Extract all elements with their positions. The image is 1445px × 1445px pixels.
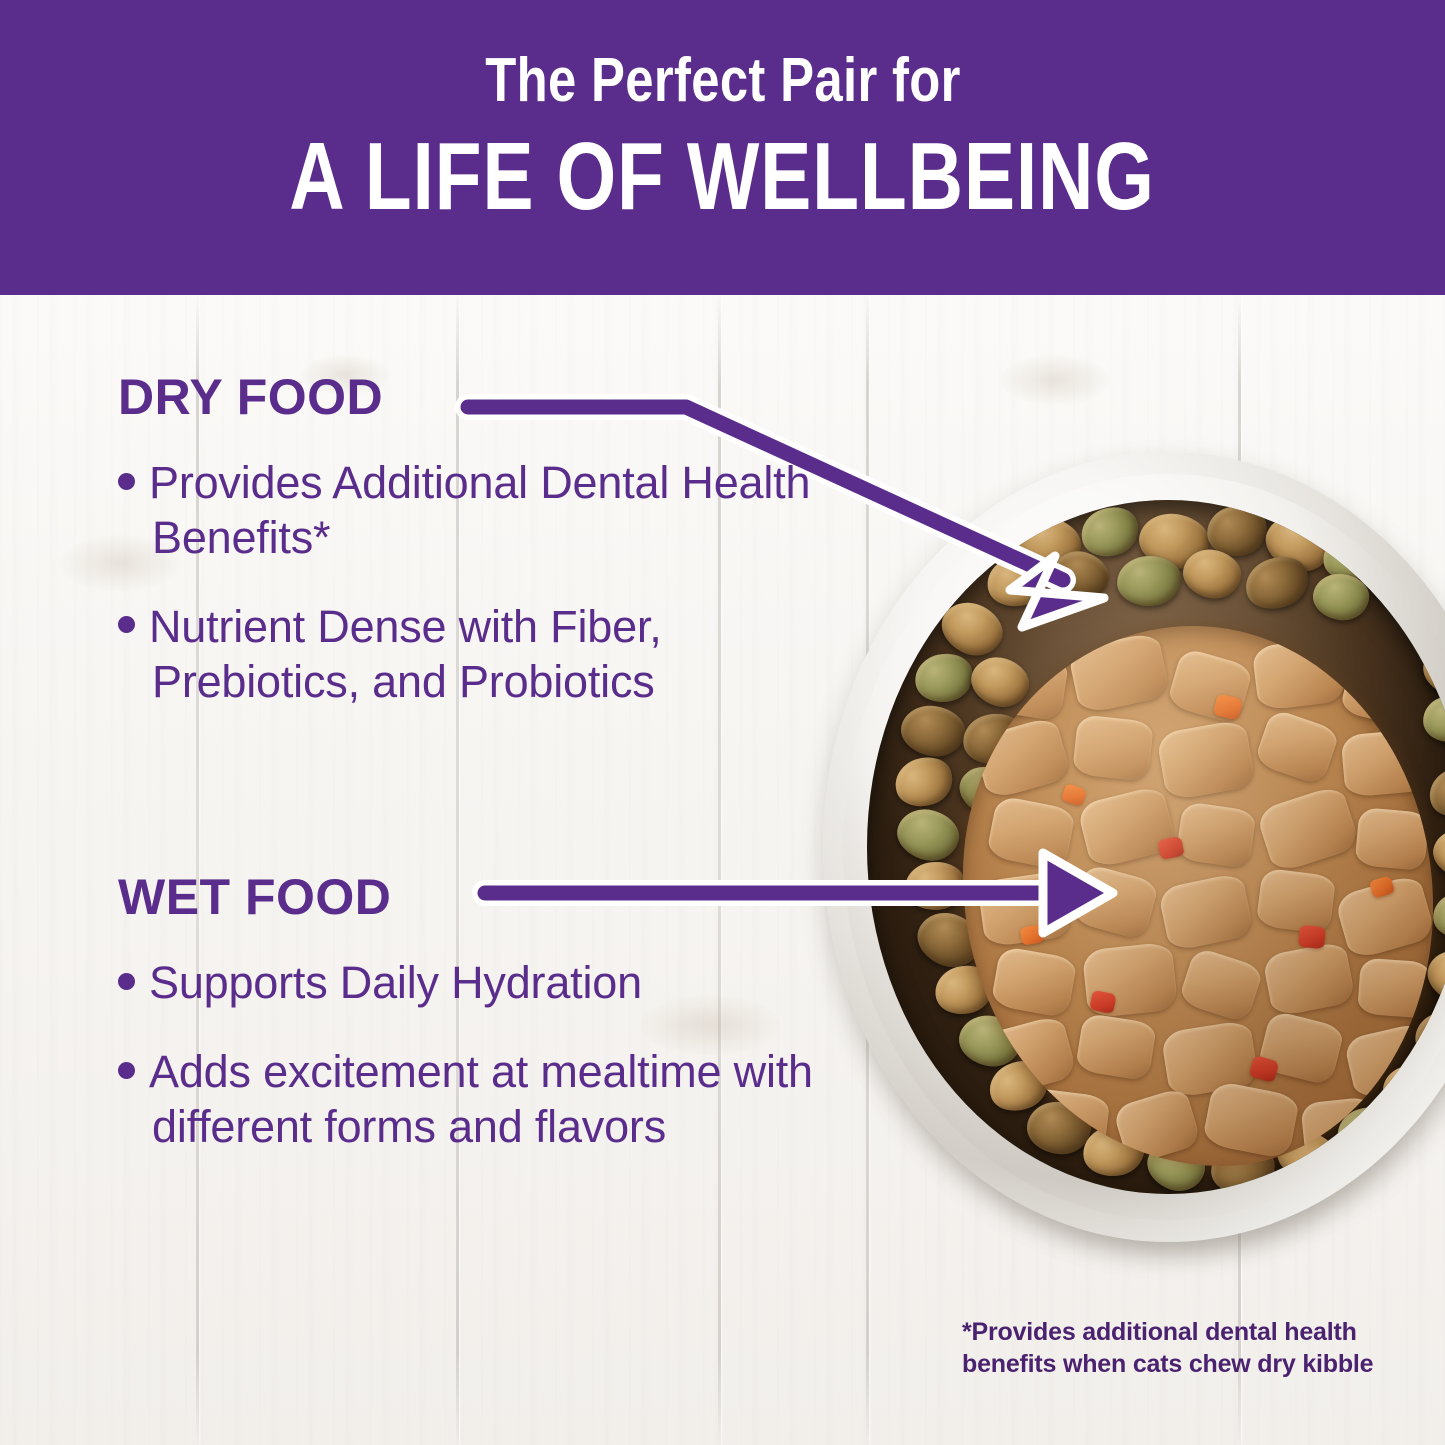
list-item: Adds excitement at mealtime with differe… bbox=[118, 1045, 818, 1155]
list-item-label: Provides Additional Dental Health Benefi… bbox=[149, 457, 810, 563]
list-item: Provides Additional Dental Health Benefi… bbox=[118, 456, 818, 566]
header-title: A LIFE OF WELLBEING bbox=[290, 125, 1156, 229]
gravy-sheen bbox=[963, 626, 1433, 1166]
wet-food-pool bbox=[963, 626, 1433, 1166]
list-item-label: Supports Daily Hydration bbox=[149, 957, 642, 1008]
promo-infographic: The Perfect Pair for A LIFE OF WELLBEING bbox=[0, 0, 1445, 1445]
dry-food-heading: DRY FOOD bbox=[118, 372, 818, 422]
list-item: Supports Daily Hydration bbox=[118, 956, 818, 1011]
wet-food-bullet-list: Supports Daily Hydration Adds excitement… bbox=[118, 956, 818, 1155]
header-subtitle: The Perfect Pair for bbox=[485, 48, 961, 113]
wood-knot bbox=[1000, 355, 1110, 405]
wet-food-heading: WET FOOD bbox=[118, 872, 818, 922]
bullet-dot-icon bbox=[118, 973, 135, 990]
list-item-label: Nutrient Dense with Fiber, Prebiotics, a… bbox=[149, 601, 662, 707]
dry-food-bullet-list: Provides Additional Dental Health Benefi… bbox=[118, 456, 818, 710]
bowl-interior bbox=[867, 500, 1445, 1194]
header-banner: The Perfect Pair for A LIFE OF WELLBEING bbox=[0, 0, 1445, 295]
pet-food-bowl-image bbox=[823, 452, 1445, 1257]
wet-food-section: WET FOOD Supports Daily Hydration Adds e… bbox=[118, 872, 818, 1155]
bullet-dot-icon bbox=[118, 616, 135, 633]
bullet-dot-icon bbox=[118, 1062, 135, 1079]
footnote-text: *Provides additional dental health benef… bbox=[962, 1316, 1382, 1380]
list-item: Nutrient Dense with Fiber, Prebiotics, a… bbox=[118, 600, 818, 710]
list-item-label: Adds excitement at mealtime with differe… bbox=[149, 1046, 813, 1152]
bullet-dot-icon bbox=[118, 473, 135, 490]
dry-food-section: DRY FOOD Provides Additional Dental Heal… bbox=[118, 372, 818, 710]
